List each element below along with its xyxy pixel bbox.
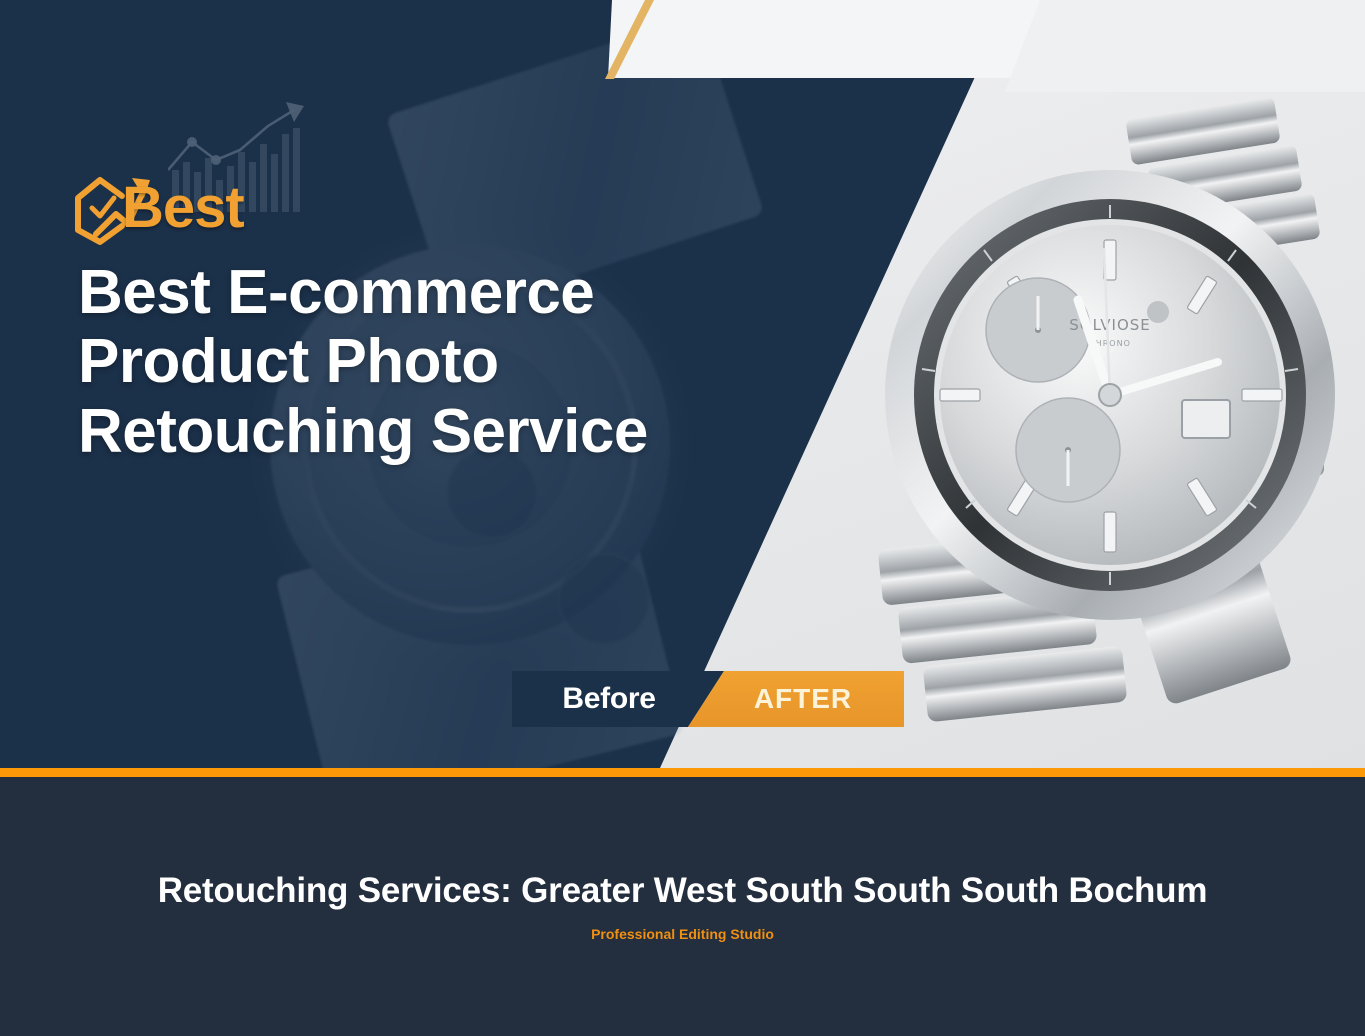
before-badge-label: Before [562, 682, 655, 716]
after-badge[interactable]: AFTER [688, 671, 904, 727]
footer-title: Retouching Services: Greater West South … [0, 871, 1365, 911]
headline-line-1: Best E-commerce [78, 258, 838, 327]
brand-logo-word: Best [122, 179, 244, 237]
slide-canvas: SOLVIOSE CHRONO [0, 0, 1365, 1036]
headline-line-2: Product Photo [78, 327, 838, 396]
headline-line-3: Retouching Service [78, 397, 838, 466]
ghost-subdial-bottom [558, 553, 650, 645]
after-badge-label: AFTER [754, 683, 852, 715]
hero-section: SOLVIOSE CHRONO [0, 0, 1365, 768]
orange-divider [0, 768, 1365, 777]
brand-logo[interactable]: Best [70, 168, 244, 248]
page-title: Best E-commerce Product Photo Retouching… [78, 258, 838, 466]
before-badge[interactable]: Before [512, 671, 724, 727]
footer-section: Retouching Services: Greater West South … [0, 777, 1365, 1036]
footer-subtitle: Professional Editing Studio [0, 926, 1365, 942]
before-after-toggle: Before AFTER [512, 671, 904, 727]
